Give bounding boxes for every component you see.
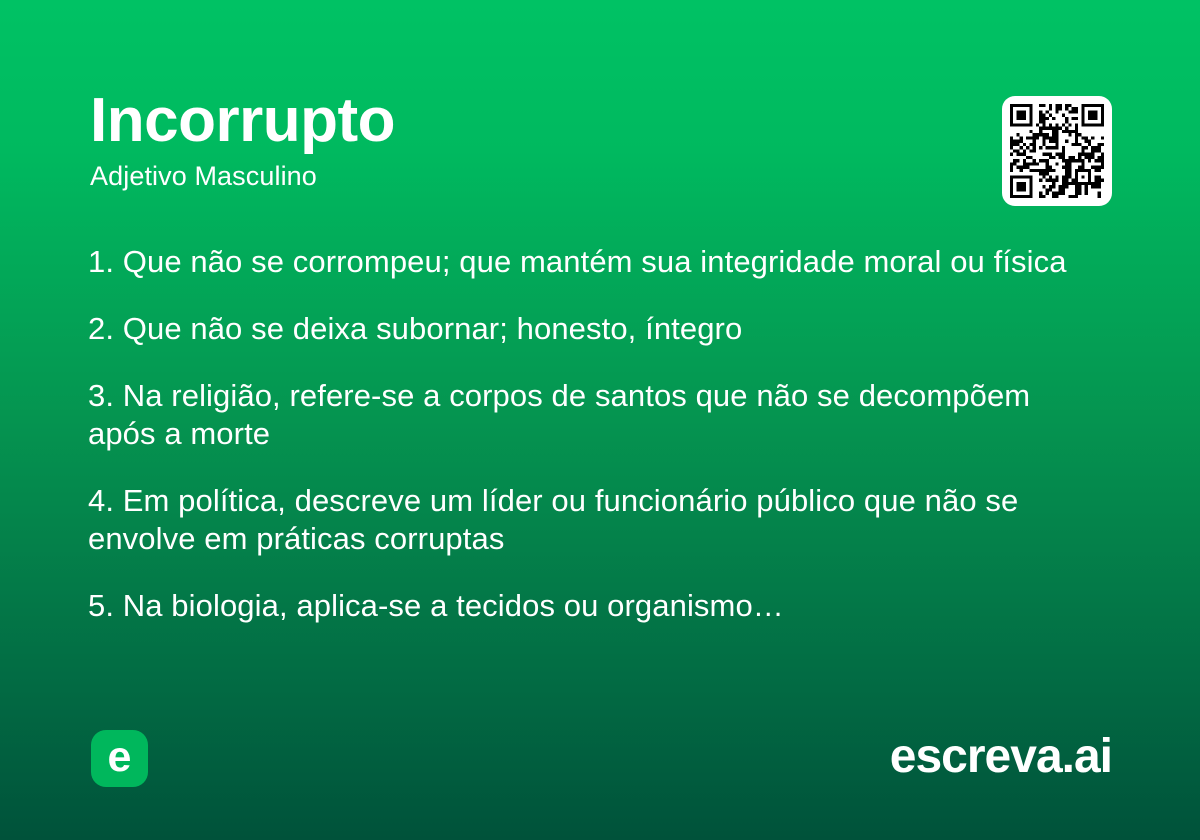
definition-list: 1. Que não se corrompeu; que mantém sua … [88, 243, 1100, 625]
brand-logo-letter: e [91, 730, 148, 787]
brand-logo-icon: e [91, 730, 148, 787]
list-item: 3. Na religião, refere-se a corpos de sa… [88, 377, 1100, 453]
dictionary-card: Incorrupto Adjetivo Masculino 1. Que não… [0, 0, 1200, 840]
list-item: 5. Na biologia, aplica-se a tecidos ou o… [88, 587, 1100, 625]
list-item: 2. Que não se deixa subornar; honesto, í… [88, 310, 1100, 348]
card-header: Incorrupto Adjetivo Masculino [90, 88, 970, 192]
qr-code-icon [1010, 104, 1104, 198]
word-class-label: Adjetivo Masculino [90, 160, 970, 192]
page-title: Incorrupto [90, 88, 970, 154]
card-footer: e escreva.ai [0, 730, 1200, 788]
brand-name: escreva.ai [890, 728, 1112, 786]
list-item: 1. Que não se corrompeu; que mantém sua … [88, 243, 1100, 281]
list-item: 4. Em política, descreve um líder ou fun… [88, 482, 1100, 558]
qr-code-frame[interactable] [1002, 96, 1112, 206]
